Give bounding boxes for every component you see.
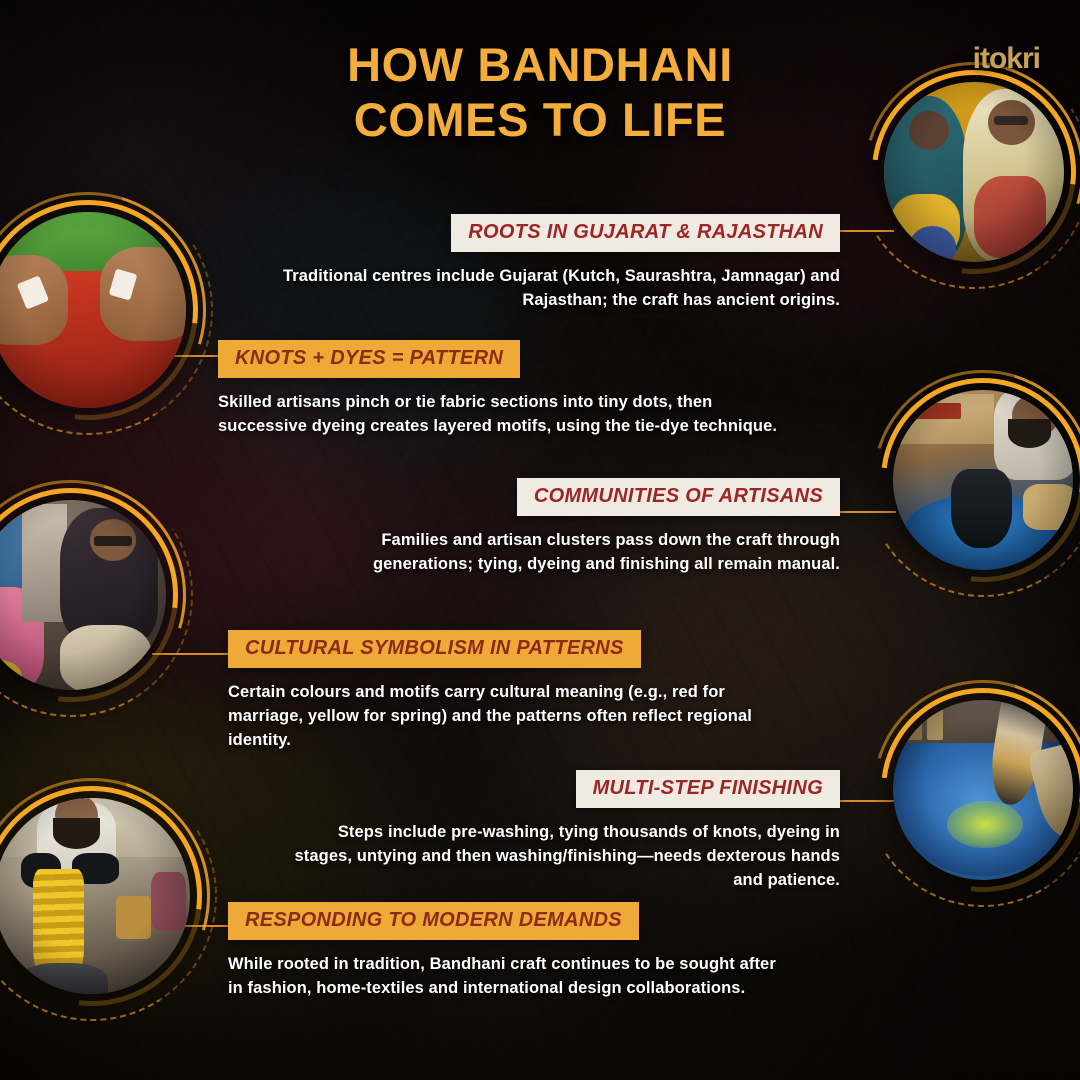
section-cultural-symbolism: CULTURAL SYMBOLISM IN PATTERNS Certain c… — [228, 630, 788, 752]
section-multi-step-finishing-heading: MULTI-STEP FINISHING — [576, 770, 840, 808]
photo-yellow-dyeing-image — [0, 798, 190, 994]
page-title-line-2: COMES TO LIFE — [0, 93, 1080, 148]
photo-indigo-vat-image — [893, 700, 1073, 880]
section-cultural-symbolism-heading: CULTURAL SYMBOLISM IN PATTERNS — [228, 630, 641, 668]
photo-dyer-blue-tub-image — [893, 390, 1073, 570]
section-knots-dyes: KNOTS + DYES = PATTERN Skilled artisans … — [218, 340, 778, 439]
photo-vignette — [0, 500, 166, 690]
section-multi-step-finishing-body: Steps include pre-washing, tying thousan… — [280, 821, 840, 892]
section-knots-dyes-body: Skilled artisans pinch or tie fabric sec… — [218, 391, 778, 439]
photo-vignette — [0, 798, 190, 994]
connector-line-multistep — [838, 800, 896, 802]
photo-yellow-dyeing — [0, 798, 190, 994]
section-roots-body: Traditional centres include Gujarat (Kut… — [280, 265, 840, 313]
photo-indigo-vat — [893, 700, 1073, 880]
connector-line-communities — [838, 511, 896, 513]
section-modern-demands-heading: RESPONDING TO MODERN DEMANDS — [228, 902, 639, 940]
page-title: HOW BANDHANI COMES TO LIFE — [0, 38, 1080, 148]
section-communities-heading: COMMUNITIES OF ARTISANS — [517, 478, 840, 516]
photo-vignette — [0, 212, 186, 408]
section-cultural-symbolism-body: Certain colours and motifs carry cultura… — [228, 681, 788, 752]
section-roots-heading: ROOTS IN GUJARAT & RAJASTHAN — [451, 214, 840, 252]
section-knots-dyes-heading: KNOTS + DYES = PATTERN — [218, 340, 520, 378]
section-communities-body: Families and artisan clusters pass down … — [280, 529, 840, 577]
section-multi-step-finishing: MULTI-STEP FINISHING Steps include pre-w… — [280, 770, 840, 892]
page-title-line-1: HOW BANDHANI — [0, 38, 1080, 93]
photo-dyer-blue-tub — [893, 390, 1073, 570]
photo-vignette — [893, 390, 1073, 570]
section-communities: COMMUNITIES OF ARTISANS Families and art… — [280, 478, 840, 577]
photo-woman-untying-image — [0, 500, 166, 690]
itokri-logo-text: itokri — [973, 42, 1040, 75]
section-modern-demands: RESPONDING TO MODERN DEMANDS While roote… — [228, 902, 788, 1001]
itokri-logo[interactable]: itokri — [973, 44, 1040, 74]
photo-hands-nailguards-image — [0, 212, 186, 408]
section-roots: ROOTS IN GUJARAT & RAJASTHAN Traditional… — [280, 214, 840, 313]
photo-vignette — [893, 700, 1073, 880]
section-modern-demands-body: While rooted in tradition, Bandhani craf… — [228, 953, 788, 1001]
photo-hands-nailguards — [0, 212, 186, 408]
photo-woman-untying — [0, 500, 166, 690]
